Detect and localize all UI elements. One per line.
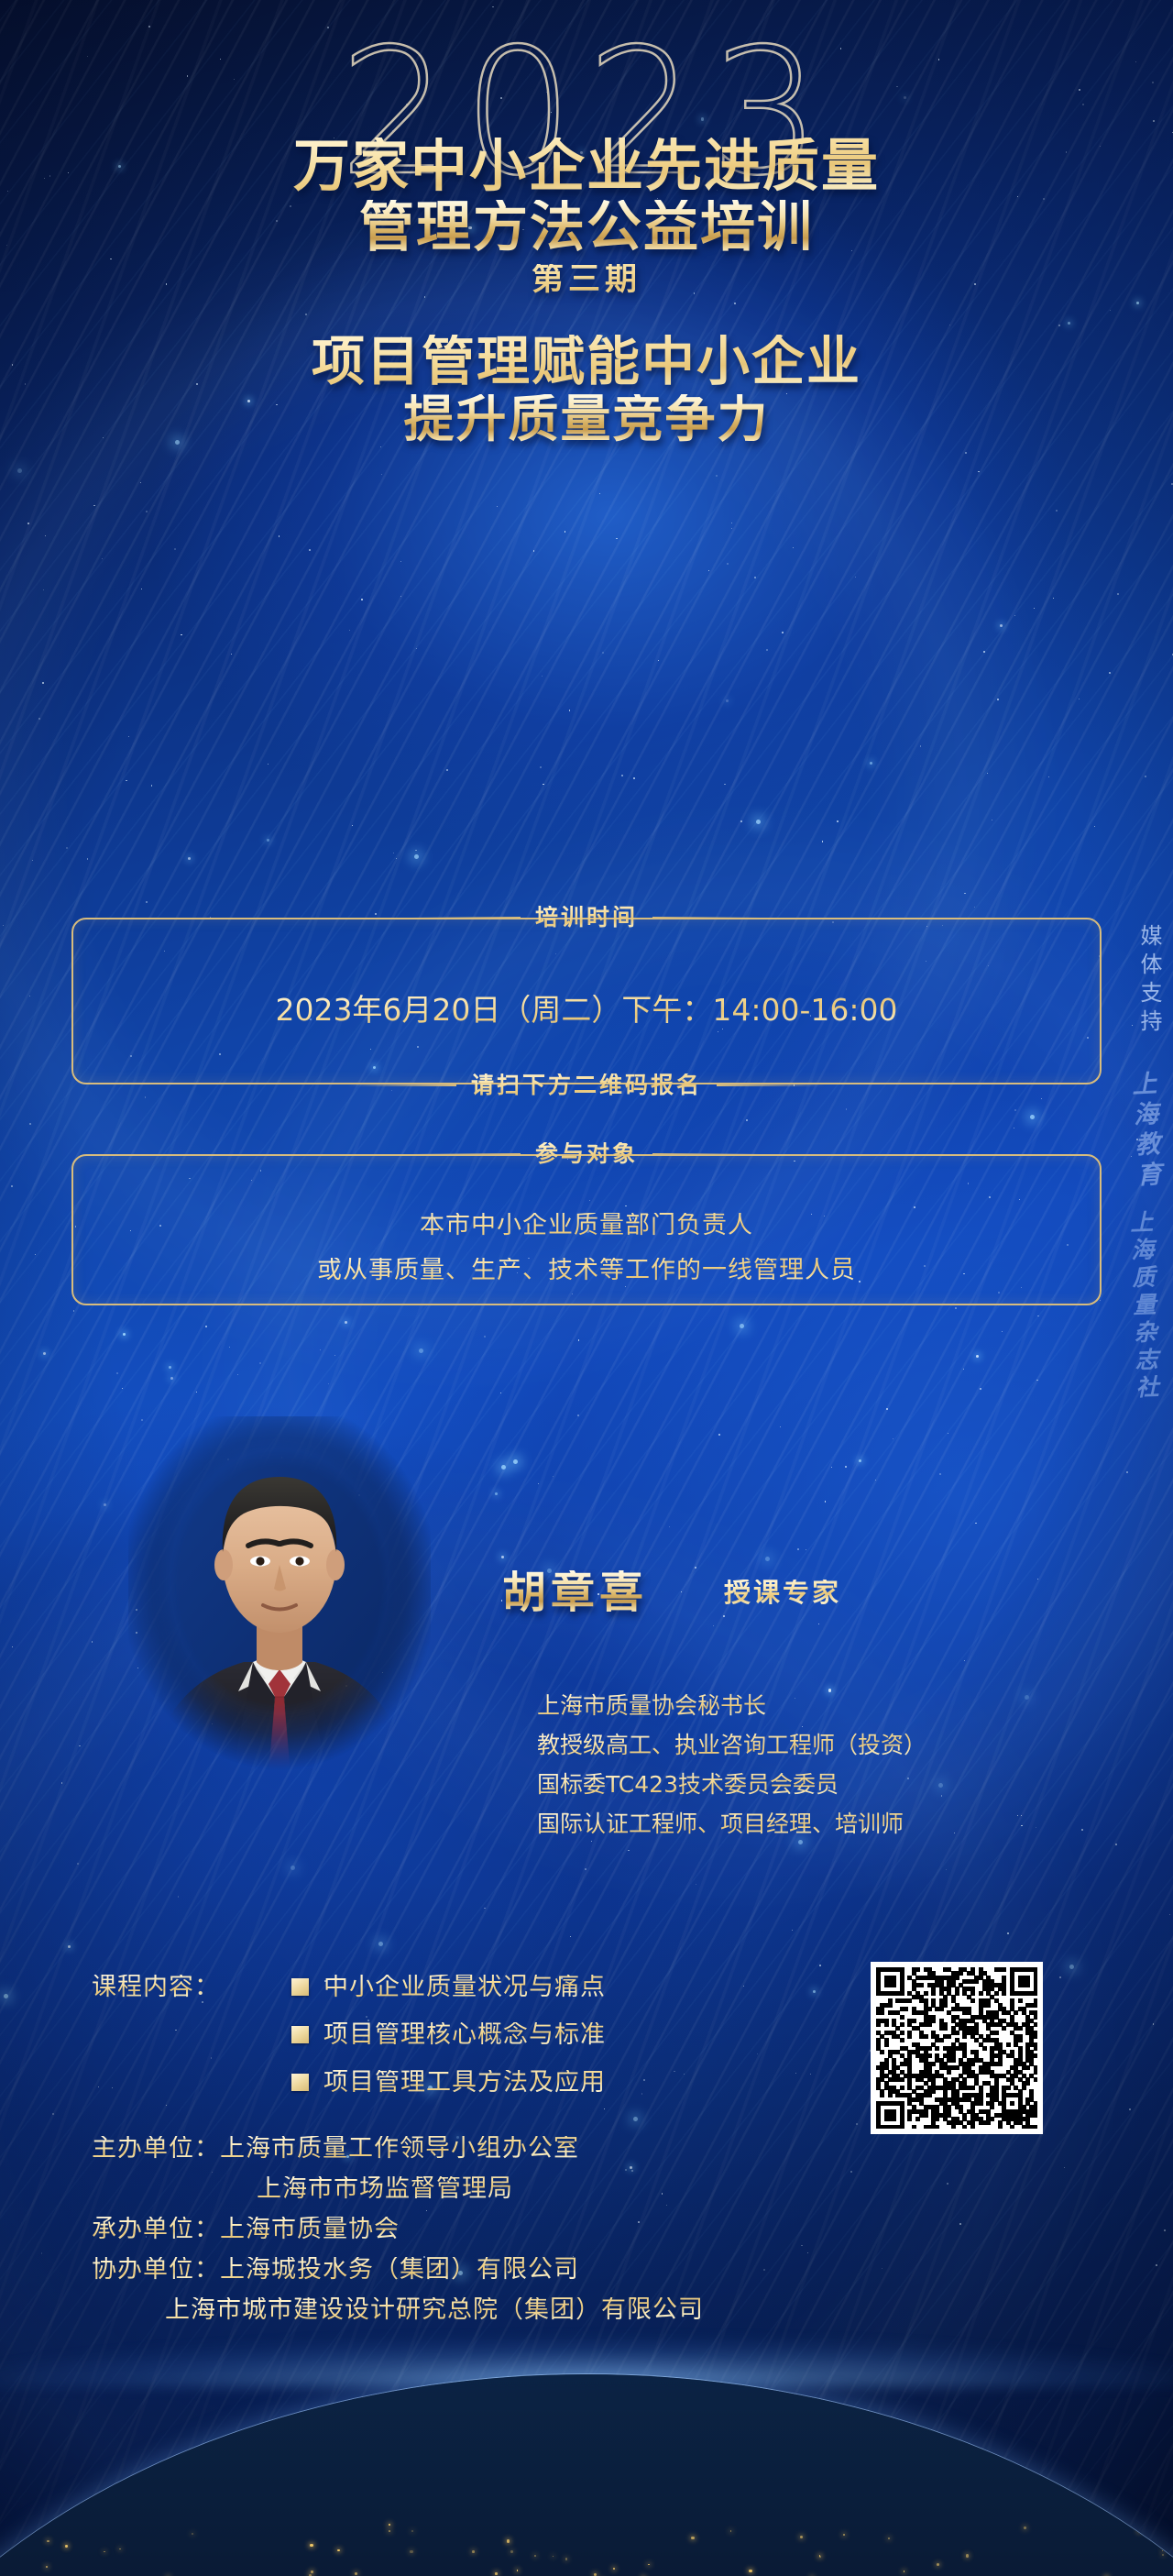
organizer-row-undertaker: 承办单位： 上海市质量协会 xyxy=(92,2217,400,2241)
title-line-1: 万家中小企业先进质量 xyxy=(0,138,1173,194)
rule-right xyxy=(652,1153,761,1155)
organizer-value: 上海市质量工作领导小组办公室 xyxy=(220,2136,579,2161)
speaker-credential-4: 国际认证工程师、项目经理、培训师 xyxy=(537,1807,904,1842)
bullet-square-icon xyxy=(291,2026,309,2043)
organizer-value: 上海城投水务（集团）有限公司 xyxy=(220,2257,579,2282)
media-logo-shanghai-quality-magazine: 上海质量杂志社 xyxy=(1128,1210,1157,1404)
qr-prompt-heading: 请扫下方二维码报名 xyxy=(348,1073,825,1096)
course-item-label: 项目管理核心概念与标准 xyxy=(323,2022,606,2047)
training-time-heading: 培训时间 xyxy=(412,906,761,929)
speaker-credential-1: 上海市质量协会秘书长 xyxy=(537,1689,766,1723)
organizer-row-host: 主办单位： 上海市质量工作领导小组办公室 xyxy=(92,2136,579,2161)
course-item-2: 项目管理核心概念与标准 xyxy=(291,2022,606,2047)
organizer-host-continuation: 上海市市场监督管理局 xyxy=(257,2176,513,2201)
organizer-key: 承办单位： xyxy=(92,2217,220,2241)
course-item-3: 项目管理工具方法及应用 xyxy=(291,2070,606,2095)
course-item-label: 中小企业质量状况与痛点 xyxy=(323,1975,606,1999)
training-time-value: 2023年6月20日（周二）下午：14:00-16:00 xyxy=(0,995,1173,1025)
organizer-coorganizer-continuation: 上海市城市建设设计研究总院（集团）有限公司 xyxy=(165,2297,704,2322)
headline-line-1: 项目管理赋能中小企业 xyxy=(0,335,1173,388)
speaker-role: 授课专家 xyxy=(724,1580,841,1606)
earth-horizon xyxy=(0,2374,1173,2576)
organizer-value: 上海市质量协会 xyxy=(220,2217,400,2241)
rule-left xyxy=(412,1153,521,1155)
speaker-portrait xyxy=(128,1416,431,1783)
speaker-credential-2: 教授级高工、执业咨询工程师（投资） xyxy=(537,1728,926,1763)
rule-left xyxy=(348,1084,456,1086)
rule-left xyxy=(412,917,521,919)
course-content-label: 课程内容： xyxy=(92,1975,220,1999)
rule-right xyxy=(717,1084,825,1086)
media-logo-shanghai-education: 上海教育 xyxy=(1129,1070,1160,1192)
audience-heading: 参与对象 xyxy=(412,1142,761,1165)
issue-label: 第三期 xyxy=(0,264,1173,296)
speaker-credential-3: 国标委TC423技术委员会委员 xyxy=(537,1767,839,1802)
course-item-label: 项目管理工具方法及应用 xyxy=(323,2070,606,2095)
audience-line-2: 或从事质量、生产、技术等工作的一线管理人员 xyxy=(0,1258,1173,1282)
course-item-1: 中小企业质量状况与痛点 xyxy=(291,1975,606,1999)
poster-canvas: 2023 万家中小企业先进质量 管理方法公益培训 第三期 项目管理赋能中小企业 … xyxy=(0,0,1173,2576)
headline-line-2: 提升质量竞争力 xyxy=(0,394,1173,445)
bullet-square-icon xyxy=(291,2074,309,2091)
qr-code-image xyxy=(876,1967,1037,2129)
audience-line-1: 本市中小企业质量部门负责人 xyxy=(0,1213,1173,1238)
organizer-row-coorganizer: 协办单位： 上海城投水务（集团）有限公司 xyxy=(92,2257,579,2282)
organizer-key: 主办单位： xyxy=(92,2136,220,2161)
media-support-label: 媒体支持 xyxy=(1138,924,1160,1038)
speaker-photo xyxy=(128,1416,431,1783)
bullet-square-icon xyxy=(291,1978,309,1996)
rule-right xyxy=(652,917,761,919)
organizer-key: 协办单位： xyxy=(92,2257,220,2282)
speaker-name: 胡章喜 xyxy=(502,1570,648,1614)
registration-qr-code[interactable] xyxy=(871,1962,1043,2134)
title-line-2: 管理方法公益培训 xyxy=(0,200,1173,255)
